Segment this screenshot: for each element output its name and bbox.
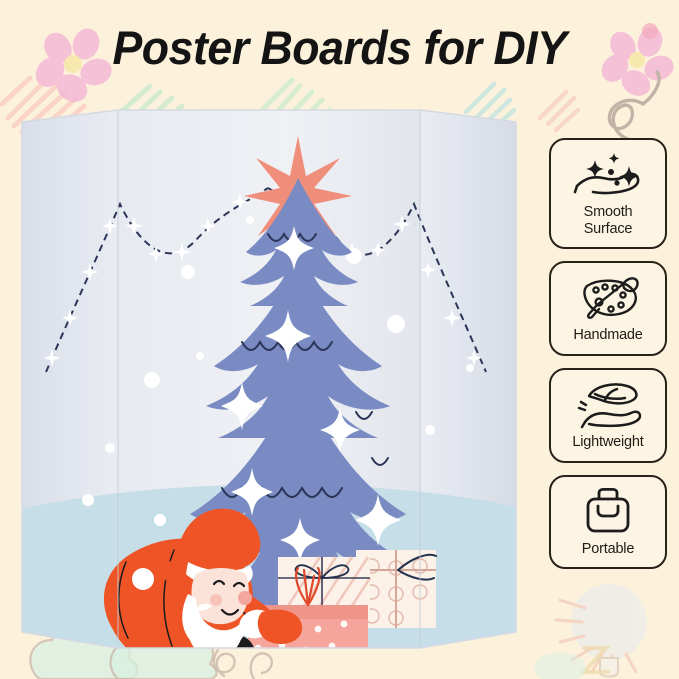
feature-card-list: Smooth Surface Handmade (549, 138, 667, 569)
feature-card-portable[interactable]: Portable (549, 475, 667, 570)
page-title: Poster Boards for DIY (17, 20, 662, 75)
briefcase-icon (578, 487, 638, 537)
feather-hand-icon (571, 380, 645, 430)
feature-card-label: Handmade (573, 327, 642, 344)
feature-card-lightweight[interactable]: Lightweight (549, 368, 667, 463)
feature-card-smooth-surface[interactable]: Smooth Surface (549, 138, 667, 249)
product-listing-image: Poster Boards for DIY (0, 0, 679, 679)
feature-card-label: Lightweight (572, 434, 643, 451)
sunburst-doodle (556, 584, 647, 677)
feature-card-handmade[interactable]: Handmade (549, 261, 667, 356)
gift-box-cream-top (278, 557, 370, 612)
feature-card-label: Portable (582, 541, 634, 558)
sparkle-hand-icon (571, 150, 645, 200)
squiggle-doodle (609, 100, 643, 140)
feature-card-label: Smooth Surface (584, 204, 633, 237)
paint-palette-icon (571, 273, 645, 323)
trifold-poster-board (0, 100, 540, 660)
